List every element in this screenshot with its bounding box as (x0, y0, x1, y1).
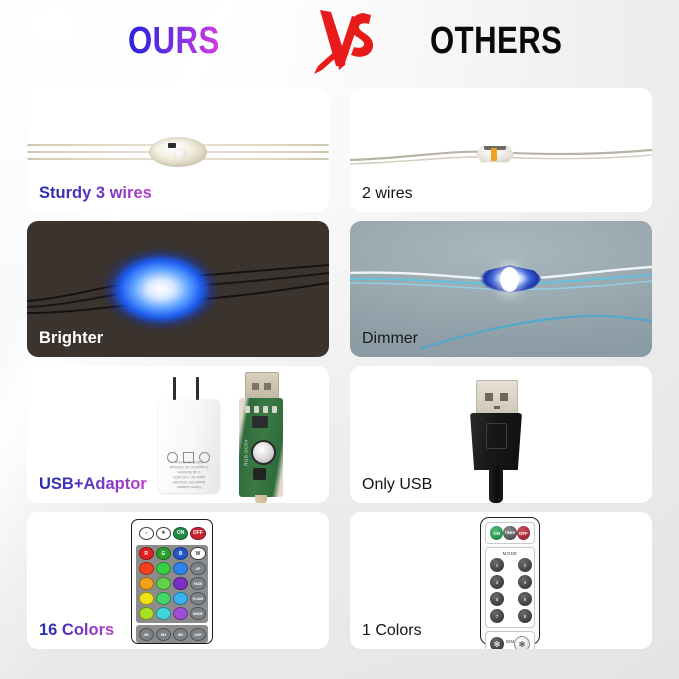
recycle-icon (168, 452, 179, 463)
fcc-icon (184, 452, 195, 463)
adaptor-input: Input:AC 100-240V (160, 474, 218, 479)
ours-card-colors: ☼ ☀ ON OFF R G B W UP (27, 512, 329, 649)
comparison-row-brightness: Brighter Dimmer (27, 221, 652, 357)
comparison-row-power: Power Adapter Model:GF-0502000 Input:AC … (27, 366, 652, 503)
mono-remote: ON TIMER OFF MODE 1 2 3 4 5 6 7 (480, 517, 540, 645)
adaptor-freq: 0.4A 50/60Hz (160, 469, 218, 474)
mono-timer-button[interactable]: TIMER (503, 526, 516, 540)
header: OURS VS OTHERS (0, 0, 679, 86)
ours-label-wires: Sturdy 3 wires (39, 184, 152, 203)
others-card-brightness: Dimmer (350, 221, 652, 357)
color-key[interactable]: B (173, 547, 188, 560)
others-card-wires: 2 wires (350, 88, 652, 212)
function-key-mode[interactable]: MODE (190, 607, 205, 620)
ours-label-colors: 16 Colors (39, 621, 114, 640)
color-key[interactable]: W (190, 547, 205, 560)
adaptor-brand: Power Adapter (160, 484, 218, 489)
mono-on-button[interactable]: ON (490, 526, 503, 540)
mono-remote-dim-pad: ✻ DIM ✻ − + (485, 631, 535, 649)
vs-icon: VS (306, 4, 386, 84)
rgb-remote: ☼ ☀ ON OFF R G B W UP (131, 519, 213, 644)
others-card-colors: ON TIMER OFF MODE 1 2 3 4 5 6 7 (350, 512, 652, 649)
remote-top-row: ☼ ☀ ON OFF (136, 524, 208, 542)
dongle-button (251, 440, 276, 465)
remote-off-button[interactable]: OFF (190, 527, 205, 540)
wall-adaptor: Power Adapter Model:GF-0502000 Input:AC … (158, 399, 220, 493)
dim-label: DIM (486, 639, 534, 644)
ce-icon (200, 452, 211, 463)
function-key-up[interactable]: UP (190, 562, 205, 575)
others-label-power: Only USB (362, 476, 432, 494)
timer-key-8h[interactable]: 8H (173, 628, 188, 641)
color-key[interactable] (156, 562, 171, 575)
color-key[interactable]: G (156, 547, 171, 560)
others-title: OTHERS (430, 19, 562, 63)
function-key-flash[interactable]: FLASH (190, 592, 205, 605)
color-key[interactable] (173, 592, 188, 605)
others-card-power: Only USB (350, 366, 652, 503)
mono-number-key[interactable]: 1 (490, 558, 504, 572)
timer-key-4h[interactable]: 4H (139, 628, 154, 641)
mono-number-key[interactable]: 4 (518, 575, 532, 589)
others-label-brightness: Dimmer (362, 330, 418, 348)
color-key[interactable] (139, 592, 154, 605)
comparison-infographic: OURS VS OTHERS (0, 0, 679, 679)
comparison-row-wires: Sturdy 3 wires 2 wires (27, 88, 652, 212)
remote-color-grid: R G B W UP FADE (136, 545, 208, 623)
comparison-row-colors: ☼ ☀ ON OFF R G B W UP (27, 512, 652, 649)
color-key[interactable] (139, 607, 154, 620)
color-key[interactable] (156, 607, 171, 620)
ours-card-power: Power Adapter Model:GF-0502000 Input:AC … (27, 366, 329, 503)
ours-title: OURS (128, 19, 220, 63)
adaptor-output: Output:DC 5V 2000mA (160, 464, 218, 469)
color-key[interactable]: R (139, 547, 154, 560)
dongle-silkscreen: RGB-DC5V (244, 439, 249, 465)
color-key[interactable] (156, 577, 171, 590)
mono-number-key[interactable]: 2 (518, 558, 532, 572)
brightness-down-icon[interactable]: ☼ (139, 527, 154, 540)
mono-remote-top-row: ON TIMER OFF (485, 522, 535, 544)
color-key[interactable] (156, 592, 171, 605)
usb-controller-dongle: RGB-DC5V (239, 372, 283, 502)
mono-number-key[interactable]: 3 (490, 575, 504, 589)
comparison-grid: Sturdy 3 wires 2 wires (27, 88, 652, 658)
ours-label-power: USB+Adaptor (39, 475, 147, 494)
color-key[interactable] (139, 577, 154, 590)
remote-timer-row: 4H 6H 8H 24H (136, 625, 208, 643)
mono-off-button[interactable]: OFF (517, 526, 530, 540)
color-key[interactable] (139, 562, 154, 575)
mono-remote-mode-pad: MODE 1 2 3 4 5 6 7 8 (485, 547, 535, 628)
mode-label: MODE (486, 551, 534, 556)
certification-icons (158, 452, 220, 463)
remote-on-button[interactable]: ON (173, 527, 188, 540)
ours-label-brightness: Brighter (39, 329, 103, 348)
adaptor-model: Model:GF-0502000 (160, 479, 218, 484)
brightness-up-icon[interactable]: ☀ (156, 527, 171, 540)
ours-card-brightness: Brighter (27, 221, 329, 357)
color-key[interactable] (173, 562, 188, 575)
timer-key-24h[interactable]: 24H (190, 628, 205, 641)
mono-number-key[interactable]: 5 (490, 592, 504, 606)
ours-card-wires: Sturdy 3 wires (27, 88, 329, 212)
others-label-wires: 2 wires (362, 185, 413, 203)
mono-number-key[interactable]: 7 (490, 609, 504, 623)
mono-number-key[interactable]: 6 (518, 592, 532, 606)
adaptor-print: Power Adapter Model:GF-0502000 Input:AC … (160, 403, 218, 489)
color-key[interactable] (173, 607, 188, 620)
timer-key-6h[interactable]: 6H (156, 628, 171, 641)
mono-number-key[interactable]: 8 (518, 609, 532, 623)
color-key[interactable] (173, 577, 188, 590)
others-label-colors: 1 Colors (362, 622, 422, 640)
function-key-fade[interactable]: FADE (190, 577, 205, 590)
